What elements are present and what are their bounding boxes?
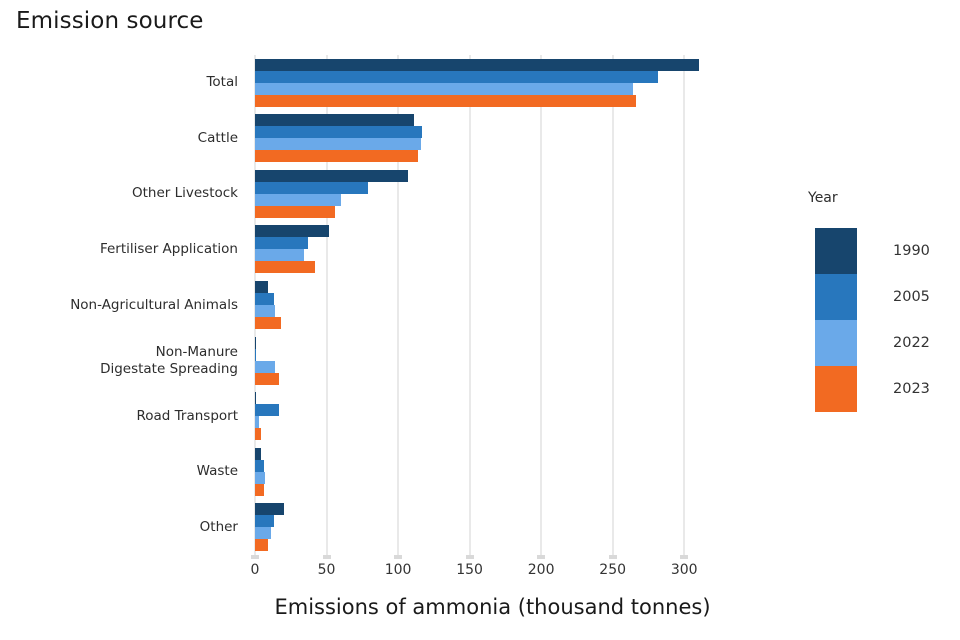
y-axis-tick-label: Total [0, 74, 238, 91]
x-axis-tick-mark [680, 555, 688, 559]
bar[interactable] [255, 392, 256, 404]
legend-label: 2023 [893, 381, 930, 397]
legend-label: 1990 [893, 243, 930, 259]
legend-item[interactable]: 1990 [780, 228, 955, 274]
y-axis-tick-label: Other Livestock [0, 185, 238, 202]
x-axis-tick-mark [537, 555, 545, 559]
x-axis-tick-label: 50 [318, 562, 336, 578]
legend-item[interactable]: 2023 [780, 366, 955, 412]
y-axis-tick-label: Waste [0, 463, 238, 480]
bar[interactable] [255, 194, 341, 206]
bar[interactable] [255, 416, 259, 428]
bar[interactable] [255, 539, 268, 551]
x-axis-tick-mark [609, 555, 617, 559]
bar-group [255, 166, 730, 222]
bar[interactable] [255, 428, 261, 440]
bar[interactable] [255, 503, 284, 515]
bar-group [255, 111, 730, 167]
x-axis-title: Emissions of ammonia (thousand tonnes) [255, 595, 730, 619]
x-axis-tick-label: 300 [671, 562, 698, 578]
bar-group [255, 388, 730, 444]
bar[interactable] [255, 170, 408, 182]
legend-item[interactable]: 2022 [780, 320, 955, 366]
plot-area [255, 55, 730, 555]
y-axis-tick-label: Other [0, 519, 238, 536]
x-axis-tick-label: 150 [456, 562, 483, 578]
bar[interactable] [255, 83, 633, 95]
legend: Year 1990200520222023 [780, 190, 955, 412]
bar[interactable] [255, 317, 281, 329]
bar[interactable] [255, 484, 264, 496]
legend-title: Year [808, 190, 955, 206]
bar-chart: Emission source TotalCattleOther Livesto… [0, 0, 960, 640]
bar-group [255, 499, 730, 555]
legend-item[interactable]: 2005 [780, 274, 955, 320]
bar[interactable] [255, 138, 421, 150]
x-axis-tick-mark [251, 555, 259, 559]
bar-group [255, 222, 730, 278]
legend-color-swatch [815, 228, 857, 274]
y-axis-tick-label: Non-Agricultural Animals [0, 297, 238, 314]
bar[interactable] [255, 114, 414, 126]
bar[interactable] [255, 225, 329, 237]
bar[interactable] [255, 95, 636, 107]
bar-group [255, 333, 730, 389]
bar[interactable] [255, 527, 271, 539]
bar[interactable] [255, 249, 304, 261]
bar-group [255, 444, 730, 500]
x-axis-tick-label: 0 [251, 562, 260, 578]
legend-color-swatch [815, 366, 857, 412]
bar[interactable] [255, 71, 658, 83]
y-axis-tick-label: Cattle [0, 130, 238, 147]
bar[interactable] [255, 150, 418, 162]
bar[interactable] [255, 126, 422, 138]
x-axis-tick-label: 200 [528, 562, 555, 578]
bar[interactable] [255, 206, 335, 218]
bar[interactable] [255, 448, 261, 460]
bar[interactable] [255, 373, 279, 385]
y-axis-labels: TotalCattleOther LivestockFertiliser App… [0, 55, 238, 555]
y-axis-tick-label: Fertiliser Application [0, 241, 238, 258]
bar[interactable] [255, 182, 368, 194]
bar[interactable] [255, 305, 275, 317]
legend-color-swatch [815, 320, 857, 366]
bar-group [255, 55, 730, 111]
chart-title: Emission source [16, 8, 204, 34]
legend-label: 2022 [893, 335, 930, 351]
x-axis-tick-mark [394, 555, 402, 559]
x-axis-tick-label: 100 [385, 562, 412, 578]
bar[interactable] [255, 261, 315, 273]
x-axis-tick-mark [323, 555, 331, 559]
bar-group [255, 277, 730, 333]
bar[interactable] [255, 472, 265, 484]
legend-color-swatch [815, 274, 857, 320]
bar-groups [255, 55, 730, 555]
y-axis-tick-label: Non-Manure Digestate Spreading [0, 344, 238, 378]
legend-items: 1990200520222023 [780, 228, 955, 412]
bar[interactable] [255, 59, 699, 71]
y-axis-tick-label: Road Transport [0, 408, 238, 425]
x-axis-tick-mark [466, 555, 474, 559]
bar[interactable] [255, 460, 264, 472]
x-axis-tick-label: 250 [599, 562, 626, 578]
bar[interactable] [255, 404, 279, 416]
legend-label: 2005 [893, 289, 930, 305]
bar[interactable] [255, 281, 268, 293]
bar[interactable] [255, 293, 274, 305]
bar[interactable] [255, 515, 274, 527]
bar[interactable] [255, 349, 256, 361]
bar[interactable] [255, 237, 308, 249]
bar[interactable] [255, 337, 256, 349]
bar[interactable] [255, 361, 275, 373]
x-axis: 050100150200250300 [255, 555, 730, 581]
